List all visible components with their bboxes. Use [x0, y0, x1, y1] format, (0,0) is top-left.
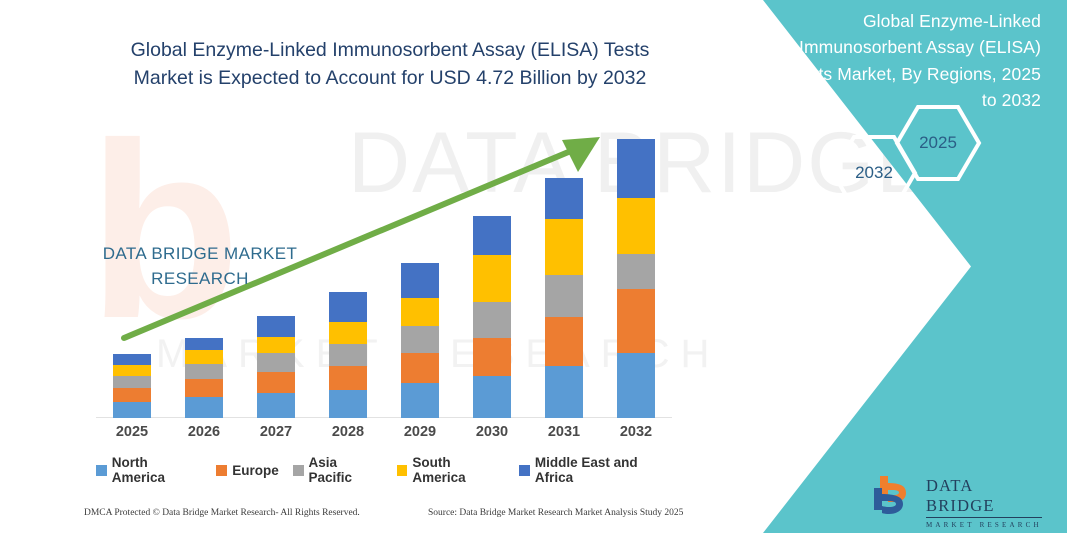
- bar-segment: [257, 353, 295, 372]
- stacked-bar: [329, 292, 367, 418]
- logo-subtitle: MARKET RESEARCH: [926, 521, 1042, 529]
- bar-segment: [329, 366, 367, 390]
- bar-segment: [329, 344, 367, 367]
- bar-group: [528, 120, 600, 418]
- bar-segment: [473, 376, 511, 418]
- bar-group: [600, 120, 672, 418]
- bar-segment: [257, 372, 295, 393]
- stacked-bar: [257, 316, 295, 418]
- bar-segment: [545, 219, 583, 275]
- panel-brand-line1: DATA BRIDGE MARKET: [103, 244, 298, 263]
- legend-label: South America: [412, 455, 505, 485]
- panel-title: Global Enzyme-Linked Immunosorbent Assay…: [781, 8, 1041, 113]
- legend-label: North America: [112, 455, 203, 485]
- x-axis-label: 2029: [384, 424, 456, 440]
- bar-segment: [257, 337, 295, 354]
- bar-segment: [401, 298, 439, 326]
- stacked-bar: [113, 354, 151, 418]
- legend-label: Asia Pacific: [309, 455, 383, 485]
- footer-source: Source: Data Bridge Market Research Mark…: [428, 508, 683, 518]
- legend-label: Middle East and Africa: [535, 455, 676, 485]
- bar-segment: [617, 139, 655, 199]
- bar-segment: [545, 275, 583, 317]
- legend-item[interactable]: Asia Pacific: [293, 455, 383, 485]
- bar-segment: [545, 366, 583, 418]
- bar-segment: [185, 350, 223, 364]
- bar-segment: [473, 302, 511, 338]
- bar-segment: [329, 390, 367, 418]
- bar-segment: [329, 292, 367, 322]
- x-axis-label: 2031: [528, 424, 600, 440]
- bar-segment: [473, 216, 511, 255]
- bar-segment: [545, 317, 583, 367]
- bar-segment: [257, 393, 295, 418]
- x-axis-label: 2032: [600, 424, 672, 440]
- logo-mark-icon: [872, 474, 918, 516]
- footer: DMCA Protected © Data Bridge Market Rese…: [0, 508, 700, 528]
- bar-segment: [185, 379, 223, 397]
- x-axis-label: 2026: [168, 424, 240, 440]
- bar-segment: [401, 326, 439, 354]
- bar-segment: [401, 383, 439, 418]
- legend-swatch: [96, 465, 107, 476]
- legend-swatch: [397, 465, 408, 476]
- bar-segment: [113, 365, 151, 376]
- stacked-bar: [617, 139, 655, 418]
- legend-item[interactable]: South America: [397, 455, 505, 485]
- hexagon-badge-2032: 2032: [830, 134, 918, 212]
- legend-label: Europe: [232, 463, 279, 478]
- stacked-bar: [473, 216, 511, 418]
- bar-segment: [329, 322, 367, 344]
- panel-brand-line2: RESEARCH: [0, 267, 400, 292]
- infographic-page: b DATA BRIDGE MARKET RESEARCH Global Enz…: [0, 0, 1067, 533]
- stacked-bar: [401, 263, 439, 418]
- stacked-bar: [545, 178, 583, 418]
- legend-item[interactable]: Middle East and Africa: [519, 455, 676, 485]
- bar-segment: [185, 338, 223, 351]
- logo-text: DATA BRIDGE MARKET RESEARCH: [926, 476, 1042, 529]
- bar-segment: [617, 254, 655, 289]
- x-axis-label: 2028: [312, 424, 384, 440]
- stacked-bar: [185, 338, 223, 418]
- x-axis-label: 2027: [240, 424, 312, 440]
- panel-brand: DATA BRIDGE MARKET RESEARCH: [0, 242, 400, 291]
- page-title: Global Enzyme-Linked Immunosorbent Assay…: [110, 36, 670, 93]
- bar-segment: [257, 316, 295, 337]
- bar-segment: [185, 397, 223, 418]
- legend-item[interactable]: Europe: [216, 463, 279, 478]
- bar-segment: [617, 289, 655, 354]
- bar-segment: [401, 263, 439, 298]
- bar-segment: [473, 255, 511, 302]
- legend-swatch: [519, 465, 530, 476]
- bar-group: [456, 120, 528, 418]
- legend-swatch: [293, 465, 304, 476]
- chart-legend: North AmericaEuropeAsia PacificSouth Ame…: [96, 455, 676, 485]
- bar-segment: [473, 338, 511, 377]
- logo-name: DATA BRIDGE: [926, 476, 1042, 518]
- bar-segment: [545, 178, 583, 220]
- x-axis-label: 2025: [96, 424, 168, 440]
- bar-segment: [401, 353, 439, 383]
- legend-swatch: [216, 465, 227, 476]
- x-axis-label: 2030: [456, 424, 528, 440]
- bar-segment: [113, 402, 151, 418]
- hexagon-label-end: 2032: [830, 163, 918, 183]
- chart-x-axis-labels: 20252026202720282029203020312032: [96, 424, 672, 440]
- bar-segment: [617, 353, 655, 418]
- hexagon-badges: 2025 2032: [822, 104, 1002, 214]
- bar-segment: [617, 198, 655, 254]
- legend-item[interactable]: North America: [96, 455, 202, 485]
- company-logo: DATA BRIDGE MARKET RESEARCH: [872, 472, 1042, 518]
- footer-copyright: DMCA Protected © Data Bridge Market Rese…: [84, 508, 360, 518]
- bar-segment: [113, 388, 151, 402]
- bar-segment: [113, 354, 151, 365]
- bar-segment: [113, 376, 151, 388]
- bar-segment: [185, 364, 223, 379]
